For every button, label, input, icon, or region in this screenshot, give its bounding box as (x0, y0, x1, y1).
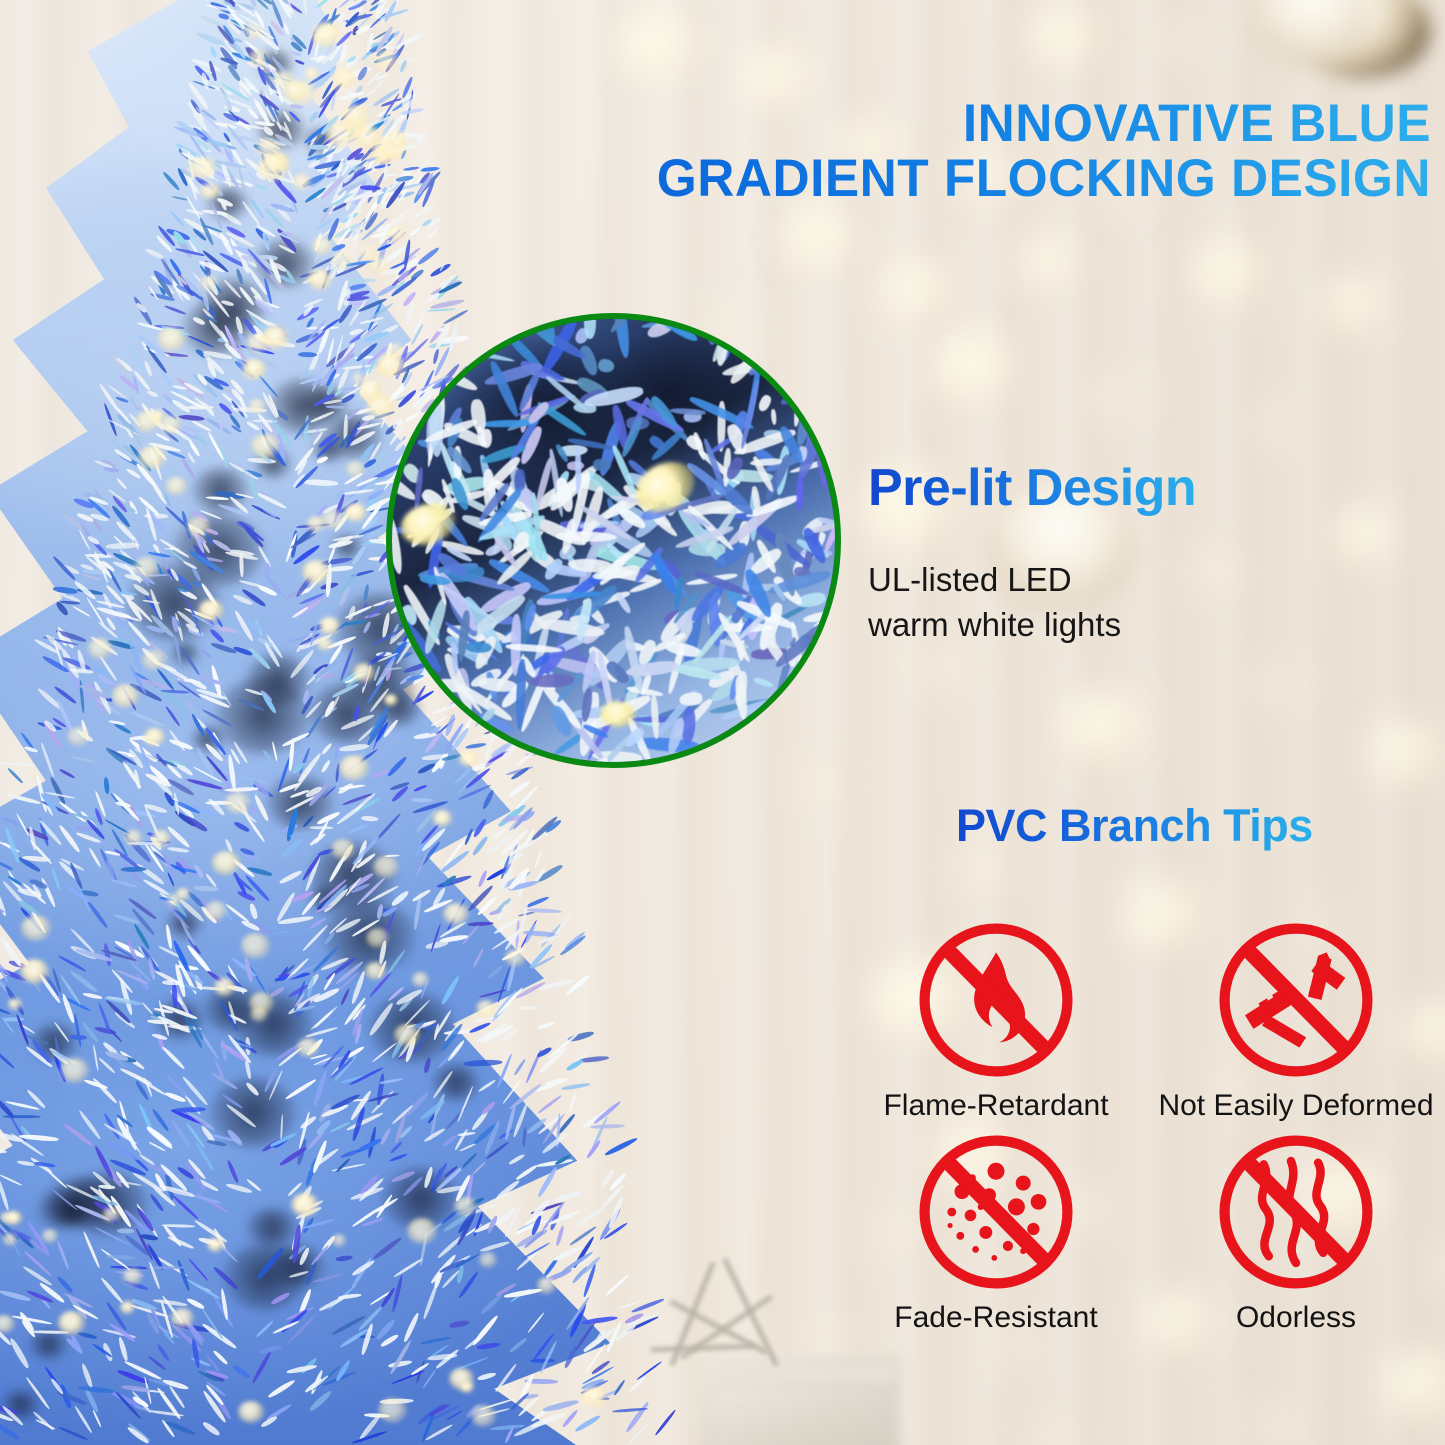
tree-needle (366, 88, 377, 96)
tree-needle (521, 900, 529, 927)
tree-needle (383, 179, 402, 195)
tree-needle (386, 188, 407, 197)
tree-needle (486, 832, 515, 855)
tree-needle (564, 976, 585, 996)
tree-needle (489, 908, 505, 916)
feature-item-flame-retardant: Flame-Retardant (846, 915, 1146, 1123)
tree-needle (495, 896, 513, 913)
tree-needle (402, 290, 418, 308)
tree-needle (419, 166, 440, 172)
feature-item-odorless: Odorless (1146, 1127, 1445, 1335)
tree-needle (404, 166, 420, 171)
tree-needle (472, 835, 489, 856)
tree-needle (518, 1005, 538, 1010)
tree-needle (579, 1055, 609, 1063)
tree-needle (533, 866, 548, 885)
tree-needle (559, 934, 587, 957)
tree-needle (573, 1235, 596, 1268)
tree-needle (351, 0, 364, 2)
tree-needle (582, 1255, 602, 1274)
tree-needle (416, 171, 434, 196)
tree-needle (336, 12, 346, 23)
tree-needle (547, 1209, 580, 1226)
tree-needle (373, 0, 388, 18)
tree-needle (388, 230, 406, 246)
tree-needle (341, 227, 364, 239)
tree-needle (370, 0, 392, 6)
tree-led-light (354, 126, 381, 149)
tree-needle (375, 223, 389, 233)
tree-needle (377, 2, 400, 29)
tree-needle (593, 1100, 622, 1125)
tree-needle (497, 903, 508, 920)
tree-needle (507, 779, 531, 799)
tree-needle (502, 814, 529, 823)
tree-needle (438, 280, 463, 294)
tree-needle (625, 1313, 658, 1327)
tree-needle (321, 80, 334, 99)
tree-needle (574, 1414, 601, 1433)
tree-led-light (361, 246, 378, 260)
tree-needle (374, 112, 388, 131)
tree-needle (624, 1401, 650, 1434)
tree-needle (399, 108, 425, 117)
tree-needle (368, 41, 388, 53)
tree-needle (565, 1048, 591, 1073)
tree-needle (586, 1139, 603, 1160)
tree-needle (394, 275, 406, 280)
tree-needle (391, 264, 418, 287)
tree-needle (318, 82, 344, 110)
tree-needle (364, 112, 392, 137)
tree-needle (345, 90, 352, 101)
tree-needle (366, 70, 383, 87)
tree-needle (590, 1124, 625, 1130)
tree-needle (608, 1171, 627, 1191)
tree-needle (388, 166, 414, 193)
tree-needle (410, 268, 425, 281)
tree-needle (380, 45, 403, 49)
tree-needle (371, 229, 398, 240)
tree-needle (360, 144, 376, 161)
tree-needle (607, 1195, 624, 1229)
tree-needle (426, 288, 445, 303)
tree-needle (383, 0, 398, 23)
tree-needle (591, 1359, 611, 1375)
tree-needle (536, 1046, 552, 1058)
prelit-design-heading: Pre-lit Design (868, 458, 1196, 518)
tree-needle (538, 1045, 569, 1074)
tree-needle (400, 59, 408, 73)
tree-needle (555, 1225, 565, 1246)
tree-needle (504, 844, 519, 875)
tree-needle (381, 117, 397, 137)
tree-needle (513, 1058, 526, 1076)
tree-needle (409, 226, 422, 237)
tree-needle (654, 1409, 676, 1436)
tree-needle (524, 923, 537, 944)
tree-needle (530, 1202, 564, 1215)
tree-needle (552, 1245, 583, 1263)
tree-needle (339, 97, 364, 122)
tree-needle (0, 761, 35, 766)
tree-needle (427, 308, 456, 312)
tree-needle (369, 41, 383, 48)
branch-closeup-inset (386, 313, 841, 768)
tree-needle (605, 1320, 623, 1354)
tree-needle (327, 0, 343, 2)
tree-needle (580, 1379, 609, 1394)
tree-needle (394, 33, 423, 51)
tree-needle (372, 31, 387, 41)
tree-needle (629, 1375, 646, 1391)
tree-needle (382, 113, 406, 140)
tree-needle (395, 174, 414, 182)
tree-needle (517, 832, 547, 853)
tree-needle (349, 117, 365, 129)
tree-needle (349, 12, 367, 26)
tree-needle (390, 255, 417, 272)
tree-needle (504, 1202, 523, 1237)
tree-needle (568, 973, 591, 993)
tree-needle (351, 221, 364, 253)
tree-needle (439, 273, 457, 286)
tree-needle (377, 173, 399, 177)
tree-needle (582, 1263, 597, 1298)
prelit-body-line-2: warm white lights (868, 603, 1121, 648)
tree-needle (439, 849, 471, 874)
tree-needle (637, 1361, 663, 1381)
tree-needle (374, 157, 392, 171)
tree-needle (516, 1228, 549, 1249)
tree-needle (522, 828, 535, 848)
feature-label-odorless: Odorless (1146, 1301, 1445, 1335)
tree-needle (384, 43, 406, 73)
tree-needle (520, 1393, 539, 1399)
tree-needle (512, 806, 535, 831)
tree-needle (403, 239, 412, 268)
tree-needle (386, 144, 416, 153)
no-flame-icon (911, 915, 1081, 1085)
tree-needle (544, 818, 563, 834)
tree-needle (391, 99, 409, 104)
tree-needle (427, 227, 439, 240)
tree-needle (400, 93, 413, 108)
tree-needle (392, 136, 408, 145)
tree-needle (400, 92, 418, 119)
tree-needle (518, 1220, 540, 1231)
tree-led-light (344, 116, 366, 135)
tree-needle (361, 155, 382, 165)
tree-needle (518, 911, 535, 917)
tree-needle (523, 1210, 545, 1227)
tree-needle (566, 1058, 585, 1072)
tree-needle (412, 176, 431, 205)
tree-needle (379, 37, 395, 50)
tree-needle (339, 90, 366, 101)
feature-item-not-easily-deformed: Not Easily Deformed (1146, 915, 1445, 1123)
product-infographic: INNOVATIVE BLUE GRADIENT FLOCKING DESIGN… (0, 0, 1445, 1445)
tree-needle (515, 920, 520, 949)
tree-needle (550, 908, 574, 941)
tree-needle (541, 1200, 566, 1231)
tree-needle (7, 766, 24, 783)
tree-needle (393, 182, 423, 192)
tree-needle (612, 1407, 648, 1413)
tree-led-light (387, 131, 407, 148)
tree-needle (515, 785, 538, 810)
tree-needle (604, 1273, 629, 1296)
prelit-design-description: UL-listed LED warm white lights (868, 558, 1121, 648)
tree-needle (501, 851, 524, 868)
feature-icon-grid: Flame-Retardant Not Eas (846, 915, 1445, 1345)
tree-needle (397, 191, 415, 200)
tree-needle (499, 866, 515, 892)
tree-led-light (342, 104, 368, 127)
tree-led-light (387, 226, 406, 242)
tree-needle (347, 96, 369, 111)
tree-needle (404, 256, 421, 271)
tree-needle (357, 65, 369, 81)
tree-needle (514, 1219, 545, 1237)
tree-needle (601, 1184, 624, 1208)
tree-needle (617, 1301, 641, 1310)
tree-needle (624, 1312, 644, 1325)
tree-needle (377, 282, 399, 298)
tree-needle (347, 0, 362, 9)
tree-needle (587, 1397, 609, 1400)
tree-needle (393, 111, 403, 133)
tree-needle (536, 1021, 555, 1030)
tree-needle (510, 766, 530, 781)
tree-needle (379, 211, 407, 233)
tree-needle (365, 45, 384, 57)
no-fade-icon (911, 1127, 1081, 1297)
tree-needle (508, 808, 533, 833)
tree-needle (380, 198, 393, 209)
tree-led-light (380, 136, 407, 160)
tree-needle (356, 16, 371, 30)
tree-needle (538, 978, 575, 991)
tree-needle (567, 1030, 594, 1043)
tree-needle (568, 1094, 577, 1113)
tree-needle (344, 10, 360, 27)
tree-needle (477, 870, 488, 889)
tree-needle (568, 1251, 595, 1271)
feature-label-not-easily-deformed: Not Easily Deformed (1146, 1089, 1445, 1123)
tree-needle (397, 266, 407, 276)
tree-needle (436, 275, 459, 301)
tree-needle (395, 168, 415, 192)
tree-needle (418, 171, 430, 185)
tree-needle (498, 841, 527, 867)
tree-led-light (333, 69, 355, 88)
tree-needle (401, 247, 421, 264)
tree-needle (535, 1077, 569, 1093)
tree-needle (386, 30, 401, 42)
tree-needle (377, 243, 392, 251)
tree-needle (367, 143, 382, 154)
tree-needle (397, 174, 416, 203)
tree-needle (376, 131, 398, 150)
tree-needle (536, 933, 561, 946)
tree-needle (527, 908, 562, 914)
tree-needle (430, 299, 465, 311)
tree-needle (582, 1105, 617, 1129)
tree-needle (338, 0, 359, 8)
tree-needle (603, 1221, 628, 1239)
tree-needle (390, 261, 408, 271)
tree-needle (376, 109, 389, 117)
tree-needle (604, 1136, 638, 1157)
tree-needle (525, 1379, 559, 1385)
tree-led-light (374, 50, 398, 70)
inset-led-bulb-3 (600, 701, 636, 727)
tree-needle (392, 143, 404, 148)
tree-needle (347, 216, 370, 239)
tree-needle (544, 1077, 565, 1086)
tree-needle (340, 116, 366, 122)
tree-needle (380, 185, 393, 205)
tree-needle (508, 880, 539, 893)
tree-needle (400, 145, 408, 160)
tree-needle (365, 32, 375, 53)
tree-needle (375, 73, 389, 81)
tree-needle (344, 65, 373, 80)
gift-box-decor-2 (716, 1388, 884, 1445)
tree-needle (500, 829, 530, 857)
tree-needle (360, 50, 372, 61)
tree-needle (383, 115, 392, 127)
tree-needle (422, 219, 433, 228)
tree-needle (391, 279, 407, 297)
tree-needle (508, 867, 531, 891)
tree-needle (389, 130, 401, 150)
tree-needle (375, 239, 389, 270)
headline-line-1: INNOVATIVE BLUE (963, 94, 1431, 153)
tree-needle (405, 129, 410, 148)
tree-needle (330, 92, 337, 111)
tree-needle (0, 956, 11, 976)
no-odor-icon (1211, 1127, 1381, 1297)
tree-needle (393, 58, 416, 64)
tree-needle (398, 133, 428, 140)
tree-needle (524, 1230, 545, 1249)
tree-needle (369, 12, 387, 29)
tree-needle (531, 954, 556, 969)
tree-needle (347, 0, 367, 12)
tree-needle (480, 1023, 515, 1045)
tree-needle (575, 1205, 607, 1228)
tree-needle (346, 6, 364, 23)
tree-needle (392, 96, 414, 112)
tree-needle (389, 216, 407, 228)
tree-needle (427, 217, 442, 230)
tree-needle (380, 267, 412, 276)
tree-needle (534, 849, 543, 868)
tree-needle (560, 1250, 594, 1274)
tree-needle (531, 1197, 552, 1218)
tree-needle (414, 132, 426, 147)
tree-needle (390, 276, 419, 299)
tree-needle (571, 1265, 588, 1284)
tree-needle (569, 1225, 596, 1245)
tree-needle (601, 1168, 617, 1188)
tree-needle (517, 870, 528, 897)
tree-led-light (582, 1387, 606, 1407)
tree-needle (538, 1095, 562, 1114)
feature-label-flame-retardant: Flame-Retardant (846, 1089, 1146, 1123)
tree-needle (383, 162, 388, 181)
tree-needle (562, 1409, 580, 1429)
tree-needle (521, 810, 536, 823)
tree-led-light (368, 257, 389, 275)
tree-needle (370, 79, 384, 95)
tree-needle (359, 116, 391, 131)
tree-needle (374, 0, 401, 20)
tree-led-light (372, 142, 397, 163)
tree-needle (520, 920, 538, 949)
tree-needle (380, 97, 402, 108)
tree-needle (348, 97, 359, 109)
tree-needle (500, 855, 511, 880)
page-title: INNOVATIVE BLUE GRADIENT FLOCKING DESIGN (558, 96, 1431, 206)
no-deform-icon (1211, 915, 1381, 1085)
tree-needle (364, 211, 380, 231)
tree-needle (542, 1256, 560, 1278)
tree-needle (563, 930, 585, 950)
tree-needle (347, 55, 357, 63)
tree-needle (344, 12, 374, 23)
feature-item-fade-resistant: Fade-Resistant (846, 1127, 1146, 1335)
tree-needle (375, 239, 391, 256)
inset-needle (480, 429, 491, 448)
tree-needle (525, 896, 549, 909)
tree-needle (365, 153, 377, 174)
tree-needle (401, 76, 413, 99)
tree-needle (590, 1116, 609, 1152)
tree-needle (557, 1113, 576, 1135)
inset-needle (593, 458, 612, 471)
tree-needle (422, 178, 437, 208)
tree-needle (523, 930, 558, 938)
tree-needle (581, 1366, 614, 1385)
tree-needle (354, 84, 364, 95)
tree-needle (540, 923, 562, 948)
tree-needle (336, 226, 352, 245)
tree-needle (359, 379, 377, 394)
tree-needle (379, 245, 406, 268)
tree-needle (374, 163, 391, 169)
tree-needle (346, 114, 363, 139)
tree-needle (345, 54, 360, 70)
tree-needle (406, 89, 414, 120)
tree-needle (598, 1207, 622, 1241)
tree-needle (473, 1016, 495, 1022)
tree-needle (375, 25, 395, 54)
tree-needle (562, 1082, 591, 1090)
tree-needle (329, 7, 337, 26)
tree-needle (377, 223, 392, 246)
tree-needle (412, 204, 434, 220)
tree-needle (626, 1316, 659, 1333)
tree-needle (499, 1028, 519, 1043)
tree-needle (542, 1398, 579, 1412)
tree-needle (439, 260, 447, 272)
tree-needle (370, 162, 382, 175)
tree-needle (468, 1022, 491, 1035)
tree-needle (440, 275, 454, 291)
